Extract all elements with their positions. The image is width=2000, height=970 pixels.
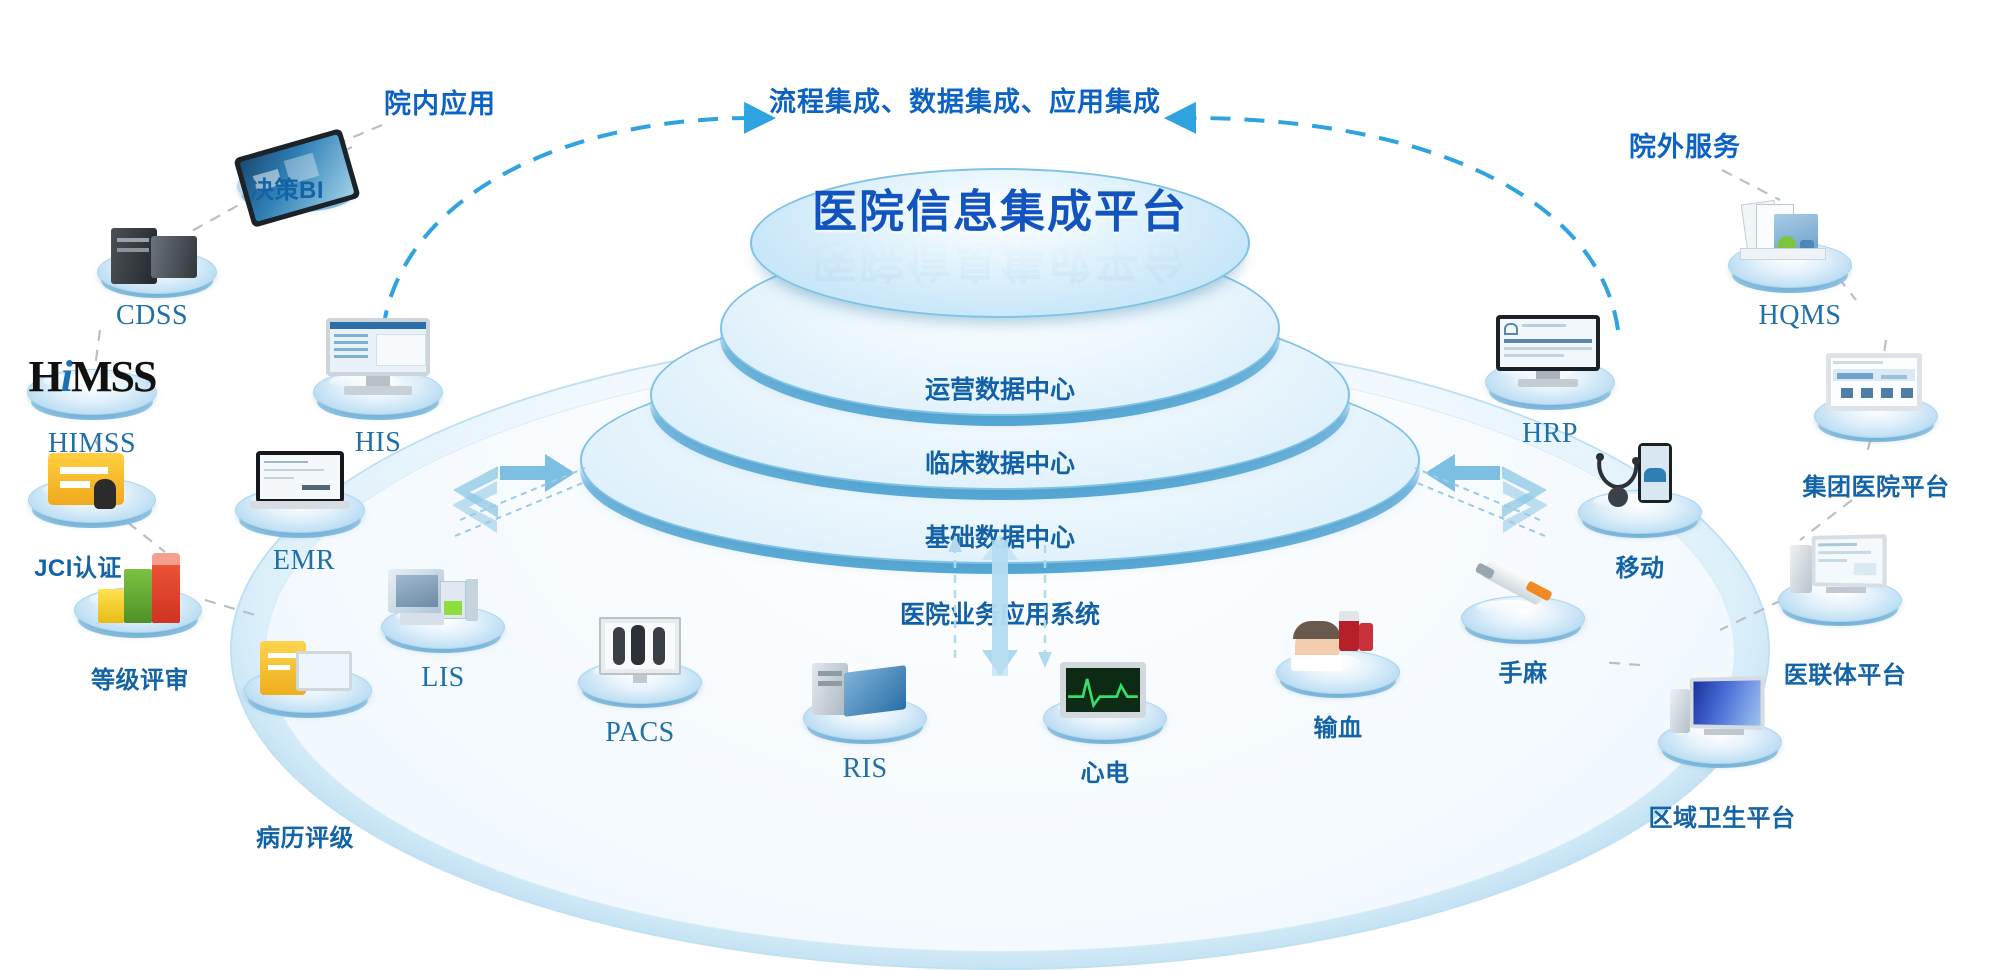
label-bi: 决策BI <box>250 170 324 205</box>
heading-external-services: 院外服务 <box>1629 125 1741 164</box>
label-lis: LIS <box>421 662 465 694</box>
syringe-icon <box>1474 558 1566 618</box>
layer-operations-label: 运营数据中心 <box>925 370 1075 406</box>
clipboard-laptop-icon <box>260 635 356 701</box>
label-cdss: CDSS <box>116 300 188 332</box>
label-emr: EMR <box>273 545 335 577</box>
label-group: 集团医院平台 <box>1803 467 1950 502</box>
label-his: HIS <box>355 427 402 459</box>
label-ecg: 心电 <box>1081 753 1130 788</box>
core-platform-title: 医院信息集成平台 <box>812 175 1188 240</box>
label-regional: 区域卫生平台 <box>1649 798 1796 833</box>
certificate-seal-icon <box>48 451 132 513</box>
label-anes: 手麻 <box>1499 653 1548 688</box>
label-alliance: 医联体平台 <box>1784 655 1907 690</box>
desktop-monitor-icon <box>326 318 430 398</box>
laptop-icon <box>250 451 350 513</box>
diagram-canvas: 基础数据中心 临床数据中心 运营数据中心 医院信息集成平台 医院信息集成平台 医… <box>0 0 2000 955</box>
himss-logo-icon: HiMSS <box>27 350 157 402</box>
label-hqms: HQMS <box>1759 300 1842 332</box>
lab-analyzer-icon <box>388 567 486 633</box>
label-ris: RIS <box>842 753 887 785</box>
documents-folder-icon <box>1740 202 1836 270</box>
ecg-monitor-icon <box>1060 662 1146 718</box>
server-rack-icon <box>107 224 203 286</box>
blood-transfusion-icon <box>1289 607 1379 673</box>
label-grade: 等级评审 <box>91 660 189 695</box>
xray-viewer-icon <box>599 617 681 683</box>
label-mobile: 移动 <box>1616 548 1665 583</box>
label-pacs: PACS <box>605 717 674 749</box>
label-blood: 输血 <box>1314 708 1363 743</box>
layer-foundation-label: 基础数据中心 <box>925 518 1075 554</box>
bar-chart-3d-icon <box>96 553 188 623</box>
heading-inner-apps: 院内应用 <box>384 82 496 121</box>
desktop-pc-icon <box>1790 535 1890 601</box>
hrp-desktop-monitor-icon <box>1496 315 1600 389</box>
crt-monitor-icon <box>1826 353 1922 419</box>
mobile-stethoscope-icon <box>1592 443 1684 513</box>
workstation-icon <box>812 659 912 721</box>
core-title-reflection: 医院信息集成平台 <box>812 232 1188 297</box>
blue-monitor-icon <box>1670 677 1770 743</box>
layer-clinical-label: 临床数据中心 <box>925 444 1075 480</box>
heading-top-flow: 流程集成、数据集成、应用集成 <box>769 80 1161 119</box>
business-systems-label: 医院业务应用系统 <box>900 595 1100 631</box>
label-hrp: HRP <box>1522 418 1578 450</box>
label-emr-rating: 病历评级 <box>256 818 354 853</box>
